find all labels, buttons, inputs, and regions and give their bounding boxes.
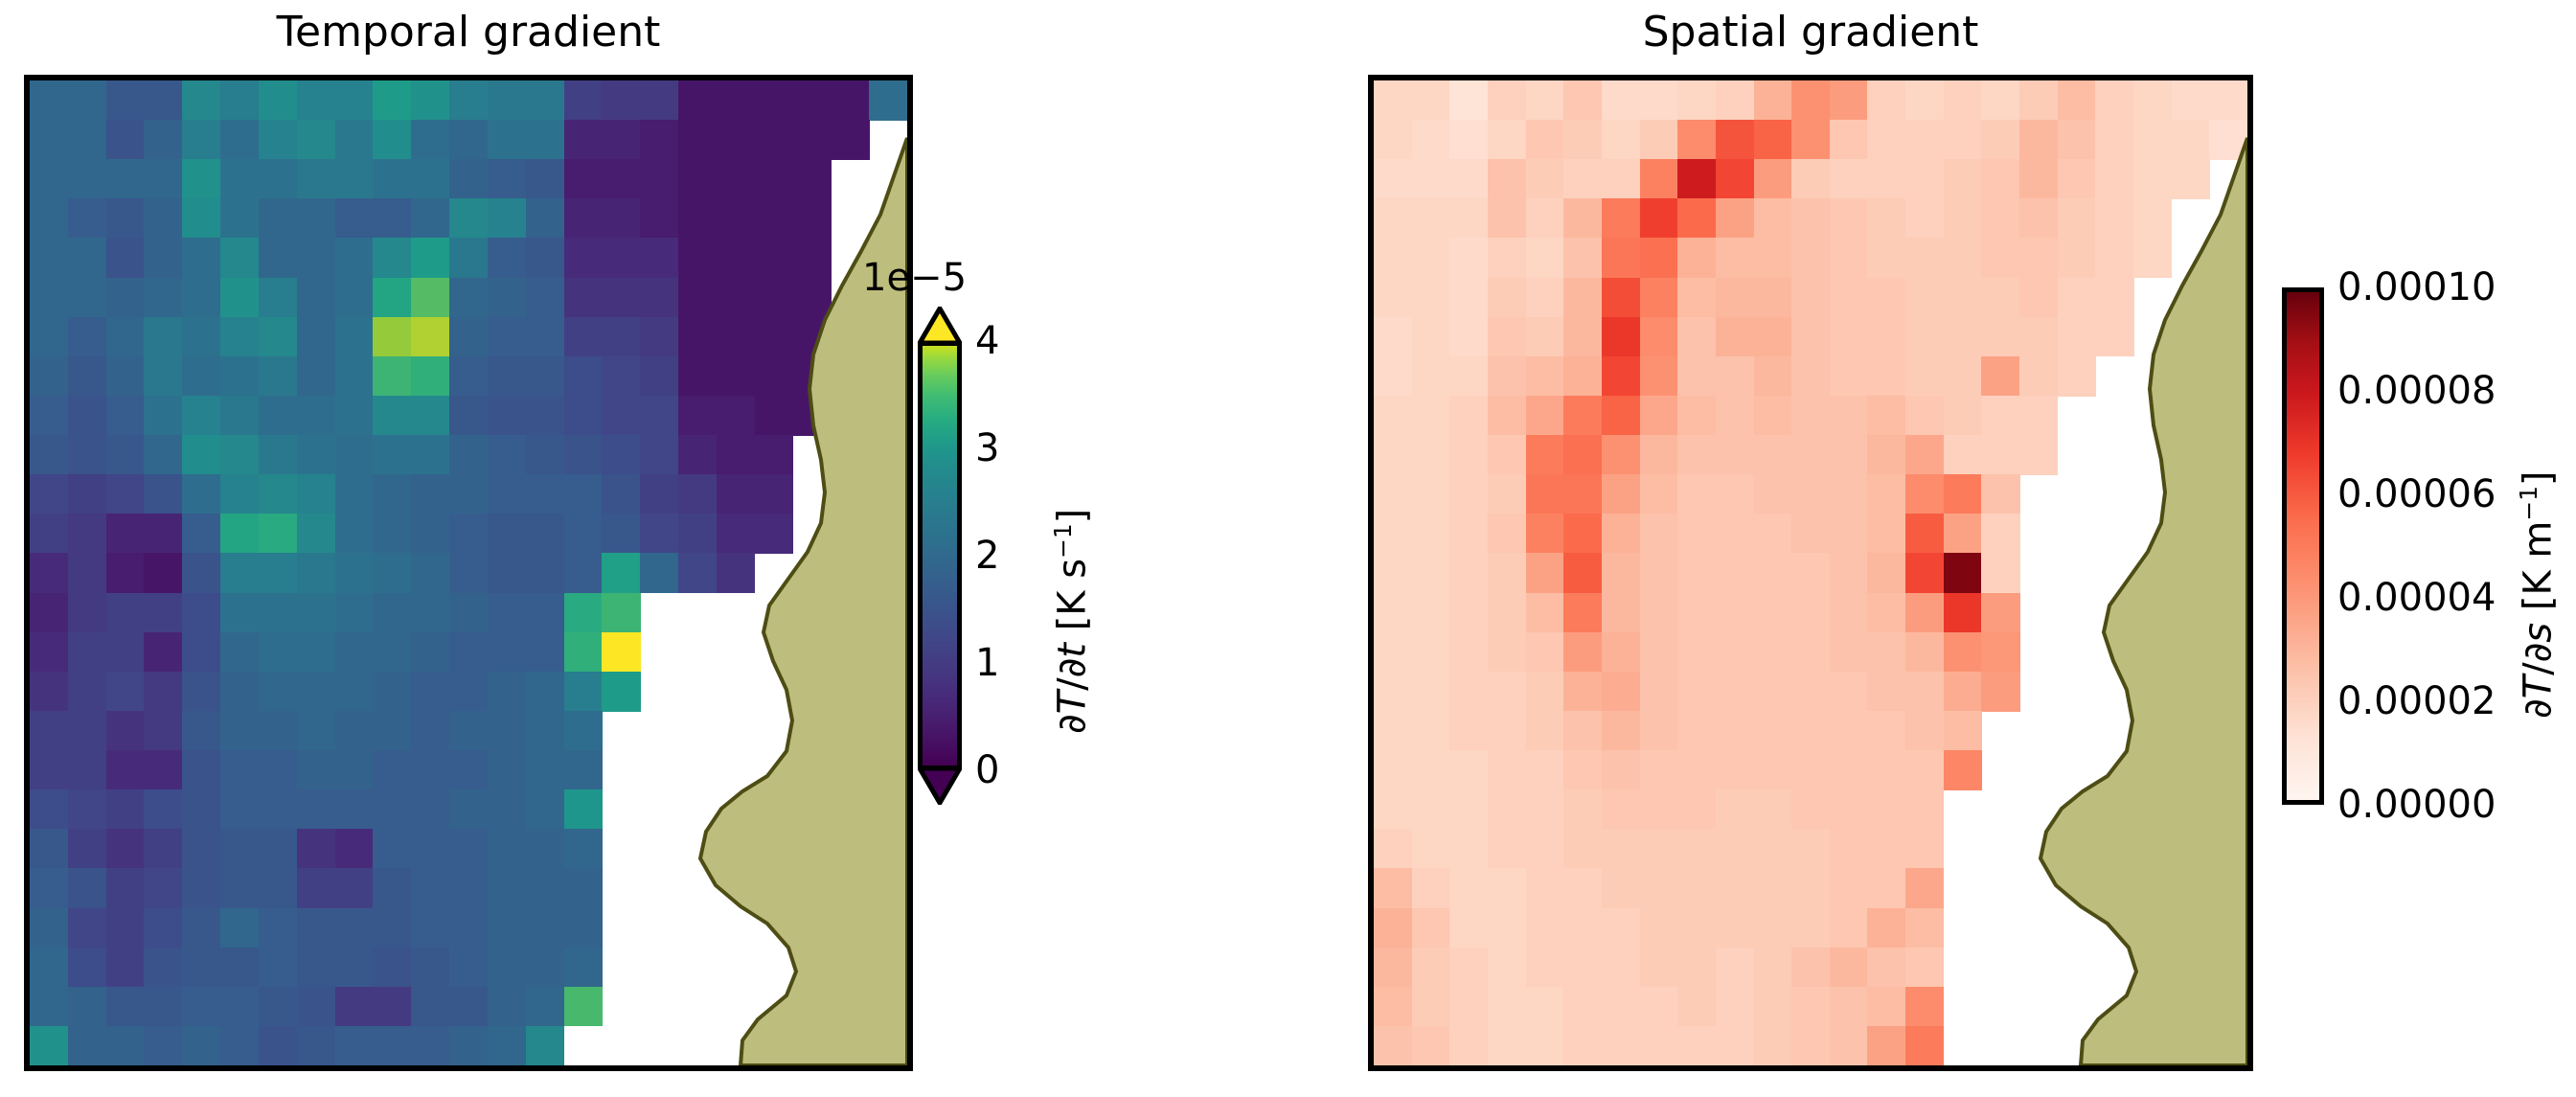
colorbar-offset-text-temporal: 1e−5	[862, 259, 967, 297]
land-mask-spatial	[1374, 80, 2247, 1065]
colorbar-gradient-temporal	[918, 341, 962, 770]
heatmap-axes-temporal	[24, 75, 913, 1071]
colorbar-tick-r1: 0.00002	[2337, 682, 2496, 720]
colorbar-tick-3: 3	[975, 429, 999, 468]
heatmap-axes-spatial	[1368, 75, 2253, 1071]
colorbar-tick-2: 2	[975, 537, 999, 575]
colorbar-extend-top-icon	[918, 307, 962, 345]
coastline-path-right	[2040, 138, 2247, 1065]
figure-canvas: Temporal gradient 1e−5 4 3 2 1	[0, 0, 2576, 1097]
colorbar-spatial[interactable]: 0.00010 0.00008 0.00006 0.00004 0.00002 …	[2282, 287, 2324, 805]
colorbar-tick-r4: 0.00008	[2337, 372, 2496, 410]
land-mask-temporal	[30, 80, 907, 1065]
colorbar-tick-r5: 0.00010	[2337, 268, 2496, 307]
panel-title-temporal: Temporal gradient	[24, 11, 913, 54]
colorbar-axis-label-temporal: ∂T/∂t [K s−1]	[1052, 509, 1091, 734]
colorbar-tick-r3: 0.00006	[2337, 475, 2496, 514]
colorbar-gradient-spatial	[2282, 287, 2324, 805]
colorbar-tick-r2: 0.00004	[2337, 579, 2496, 617]
colorbar-tick-0: 0	[975, 751, 999, 789]
colorbar-temporal[interactable]: 1e−5 4 3 2 1 0 ∂T/∂t [K s−1]	[918, 307, 962, 805]
colorbar-extend-bottom-icon	[918, 766, 962, 805]
panel-title-spatial: Spatial gradient	[1368, 11, 2253, 54]
colorbar-tick-1: 1	[975, 644, 999, 682]
colorbar-axis-label-spatial: ∂T/∂s [K m−1]	[2518, 470, 2557, 719]
colorbar-tick-4: 4	[975, 322, 999, 360]
colorbar-tick-r0: 0.00000	[2337, 786, 2496, 824]
